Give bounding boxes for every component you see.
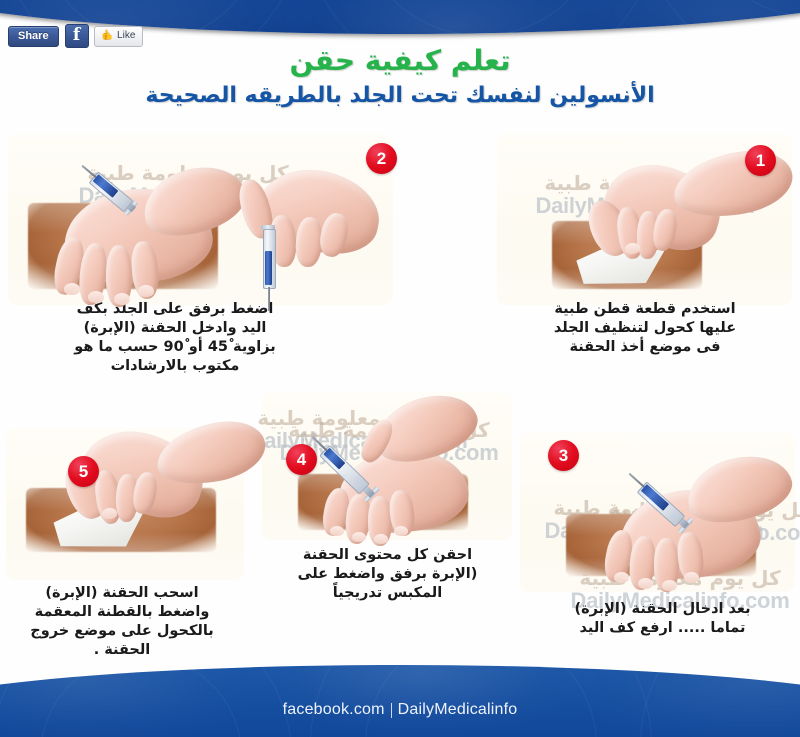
step-1-caption: استخدم قطعة قطن طبية عليها كحول لتنظيف ا… <box>500 300 790 357</box>
step-number-badge-4: 4 <box>286 444 317 475</box>
step-3-panel: كل يوم معلومة طبية DailyMedicalinfo.com … <box>520 432 795 592</box>
step-number-badge-1: 1 <box>745 145 776 176</box>
facebook-icon[interactable]: f <box>65 24 89 48</box>
title-line-2: الأنسولين لنفسك تحت الجلد بالطريقه الصحي… <box>0 81 800 111</box>
footer-page: DailyMedicalinfo <box>398 701 518 718</box>
step-2-illustration <box>8 133 393 305</box>
forearm <box>152 415 270 491</box>
forearm <box>669 145 796 223</box>
step-4-panel: كل يوم معلومة طبية DailyMedicalinfo.com … <box>262 392 512 540</box>
syringe-right <box>260 225 276 313</box>
footer-site: facebook.com <box>283 701 385 718</box>
infographic-page: Share f 👍 Like تعلم كيفية حقن الأنسولين … <box>0 0 800 737</box>
facebook-social-bar: Share f 👍 Like <box>8 24 143 48</box>
share-button[interactable]: Share <box>8 26 59 47</box>
step-5-illustration <box>6 428 244 580</box>
step-4-caption: احقن كل محتوى الحقنة (الإبرة برفق واضغط … <box>265 546 510 603</box>
footer-separator <box>391 703 392 718</box>
page-title: تعلم كيفية حقن الأنسولين لنفسك تحت الجلد… <box>0 44 800 111</box>
step-3-caption: بعد ادخال الحقنة (الإبرة) تماما ..... ار… <box>530 600 795 638</box>
step-number-badge-5: 5 <box>68 456 99 487</box>
thumbs-up-icon: 👍 <box>101 31 113 41</box>
step-5-panel: 5 <box>6 428 244 580</box>
footer-credit: facebook.comDailyMedicalinfo <box>0 701 800 719</box>
like-button[interactable]: 👍 Like <box>94 26 144 47</box>
step-5-caption: اسحب الحقنة (الإبرة) واضغط بالقطنة المعق… <box>2 584 242 660</box>
step-2-panel: كل يوم معلومة طبية DailyMedicalinfo.com … <box>8 133 393 305</box>
step-1-panel: كل يوم معلومة طبية DailyMedicalinfo.com … <box>497 133 792 305</box>
step-number-badge-3: 3 <box>548 440 579 471</box>
step-2-caption: اضغط برفق على الجلد بكف اليد وادخل الحقن… <box>10 300 340 376</box>
step-number-badge-2: 2 <box>366 143 397 174</box>
title-line-1: تعلم كيفية حقن <box>0 44 800 78</box>
like-button-label: Like <box>117 30 135 42</box>
